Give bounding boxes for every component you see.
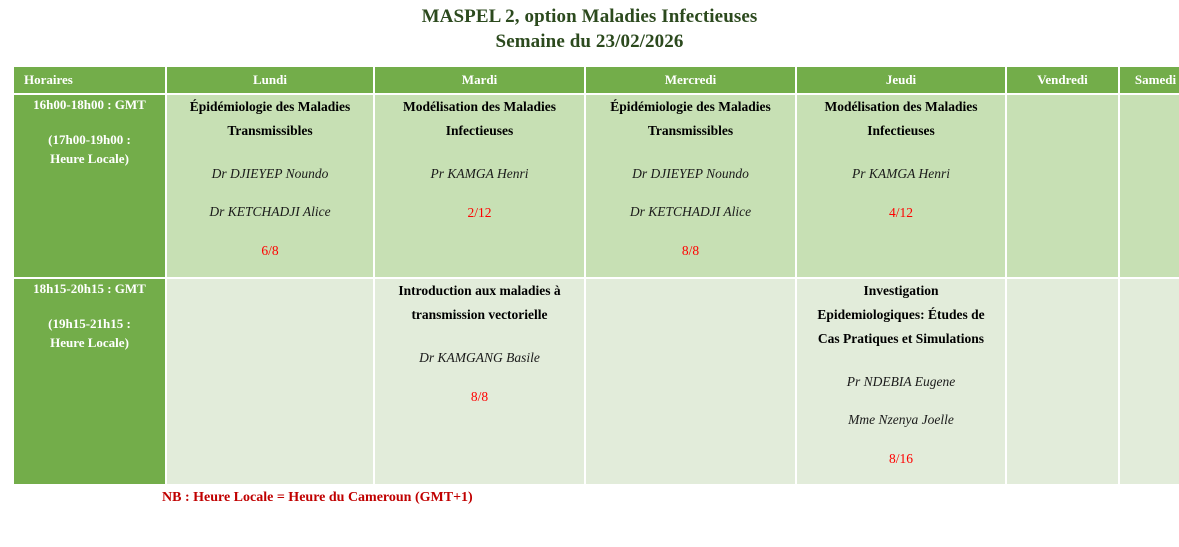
session-cell-mardi[interactable]: Modélisation des Maladies Infectieuses P… (375, 95, 584, 277)
teacher-name-2: Dr KETCHADJI Alice (167, 201, 373, 223)
course-title-line1: Introduction aux maladies à (375, 279, 584, 303)
time-slot-cell: 18h15-20h15 : GMT (19h15-21h15 : Heure L… (14, 279, 165, 484)
time-slot-cell: 16h00-18h00 : GMT (17h00-19h00 : Heure L… (14, 95, 165, 277)
course-title-line2: Transmissibles (586, 119, 795, 143)
teacher-name-1: Dr DJIEYEP Noundo (167, 163, 373, 185)
column-header-lundi: Lundi (167, 67, 373, 93)
table-header-row: Horaires Lundi Mardi Mercredi Jeudi Vend… (14, 67, 1179, 93)
session-cell-mercredi[interactable] (586, 279, 795, 484)
teacher-name-2: Dr KETCHADJI Alice (586, 201, 795, 223)
time-slot-local-line1: (17h00-19h00 : (14, 130, 165, 149)
time-slot-gmt: 16h00-18h00 : GMT (14, 95, 165, 114)
session-cell-jeudi[interactable]: Investigation Epidemiologiques: Études d… (797, 279, 1005, 484)
session-cell-mercredi[interactable]: Épidémiologie des Maladies Transmissible… (586, 95, 795, 277)
session-cell-samedi[interactable] (1120, 279, 1179, 484)
progress-badge: 6/8 (167, 240, 373, 262)
teacher-name-1: Pr KAMGA Henri (375, 163, 584, 185)
progress-badge: 2/12 (375, 202, 584, 224)
session-cell-lundi[interactable] (167, 279, 373, 484)
title-line-program: MASPEL 2, option Maladies Infectieuses (0, 4, 1179, 29)
teacher-name-2: Mme Nzenya Joelle (797, 409, 1005, 431)
course-title-line2: transmission vectorielle (375, 303, 584, 327)
column-header-horaires: Horaires (14, 67, 165, 93)
schedule-table: Horaires Lundi Mardi Mercredi Jeudi Vend… (12, 65, 1179, 486)
progress-badge: 8/16 (797, 448, 1005, 470)
progress-badge: 8/8 (375, 386, 584, 408)
schedule-table-container: Horaires Lundi Mardi Mercredi Jeudi Vend… (0, 65, 1179, 486)
session-cell-samedi[interactable] (1120, 95, 1179, 277)
course-title-line3: Cas Pratiques et Simulations (797, 327, 1005, 351)
course-title-line1: Modélisation des Maladies (375, 95, 584, 119)
footnote-local-time: NB : Heure Locale = Heure du Cameroun (G… (0, 489, 1179, 507)
column-header-samedi: Samedi (1120, 67, 1179, 93)
time-slot-local-line2: Heure Locale) (14, 149, 165, 168)
course-title-line2: Infectieuses (797, 119, 1005, 143)
session-cell-mardi[interactable]: Introduction aux maladies à transmission… (375, 279, 584, 484)
progress-badge: 8/8 (586, 240, 795, 262)
course-title-line1: Modélisation des Maladies (797, 95, 1005, 119)
table-row: 16h00-18h00 : GMT (17h00-19h00 : Heure L… (14, 95, 1179, 277)
course-title-line1: Épidémiologie des Maladies (586, 95, 795, 119)
teacher-name-1: Pr NDEBIA Eugene (797, 371, 1005, 393)
course-title-line2: Epidemiologiques: Études de (797, 303, 1005, 327)
teacher-name-1: Pr KAMGA Henri (797, 163, 1005, 185)
session-cell-jeudi[interactable]: Modélisation des Maladies Infectieuses P… (797, 95, 1005, 277)
time-slot-local-line1: (19h15-21h15 : (14, 314, 165, 333)
time-slot-gmt: 18h15-20h15 : GMT (14, 279, 165, 298)
progress-badge: 4/12 (797, 202, 1005, 224)
course-title-line1: Épidémiologie des Maladies (167, 95, 373, 119)
course-title-line1: Investigation (797, 279, 1005, 303)
table-row: 18h15-20h15 : GMT (19h15-21h15 : Heure L… (14, 279, 1179, 484)
session-cell-vendredi[interactable] (1007, 95, 1118, 277)
teacher-name-1: Dr DJIEYEP Noundo (586, 163, 795, 185)
column-header-jeudi: Jeudi (797, 67, 1005, 93)
column-header-mardi: Mardi (375, 67, 584, 93)
page-title: MASPEL 2, option Maladies Infectieuses S… (0, 0, 1179, 54)
title-line-week: Semaine du 23/02/2026 (0, 29, 1179, 54)
course-title-line2: Transmissibles (167, 119, 373, 143)
session-cell-lundi[interactable]: Épidémiologie des Maladies Transmissible… (167, 95, 373, 277)
course-title-line2: Infectieuses (375, 119, 584, 143)
teacher-name-1: Dr KAMGANG Basile (375, 347, 584, 369)
session-cell-vendredi[interactable] (1007, 279, 1118, 484)
column-header-vendredi: Vendredi (1007, 67, 1118, 93)
column-header-mercredi: Mercredi (586, 67, 795, 93)
time-slot-local-line2: Heure Locale) (14, 333, 165, 352)
